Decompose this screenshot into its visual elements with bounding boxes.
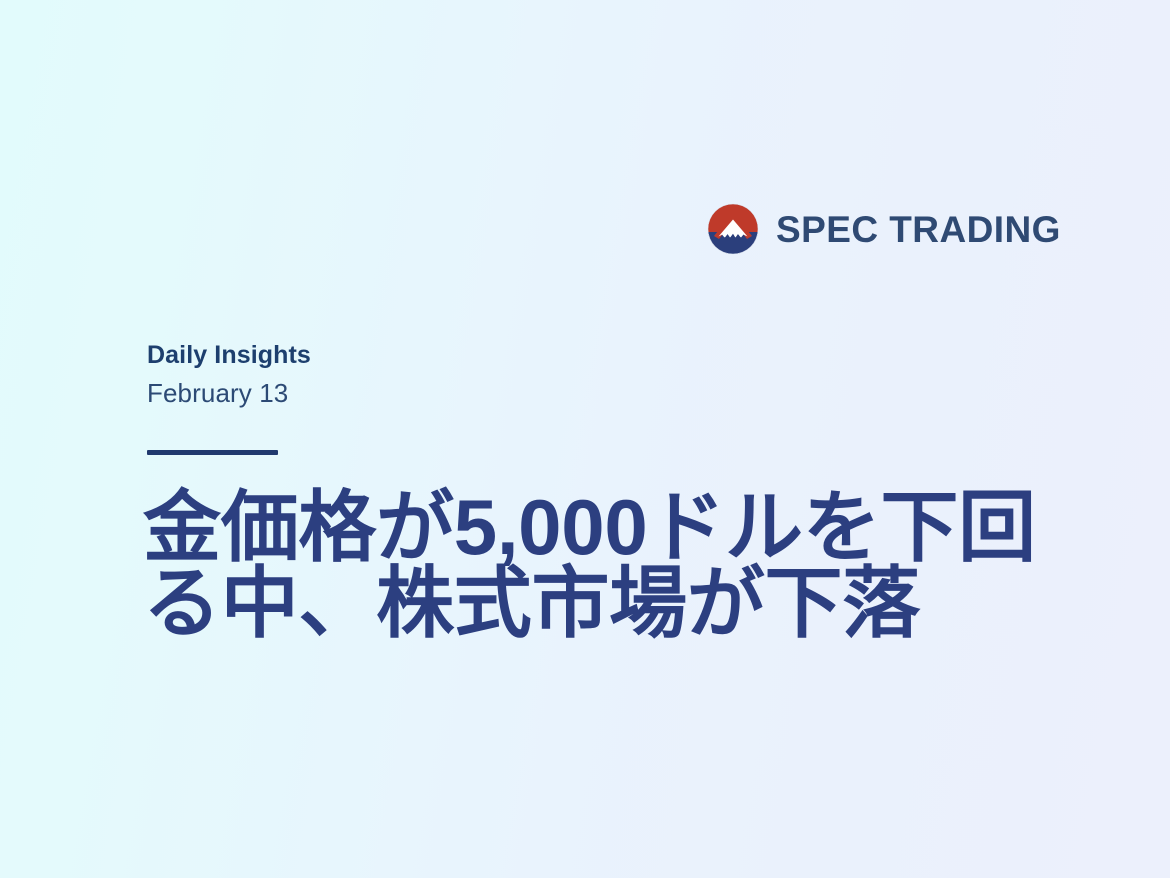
divider-rule <box>147 450 278 455</box>
brand-lockup[interactable]: SPEC TRADING <box>707 203 1061 255</box>
brand-name: SPEC TRADING <box>776 211 1061 248</box>
headline-line-2: る中、株式市場が下落 <box>143 565 1073 641</box>
eyebrow-date: February 13 <box>147 377 311 409</box>
mountain-circle-icon <box>707 203 759 255</box>
eyebrow-block: Daily Insights February 13 <box>147 340 311 409</box>
slide-canvas: SPEC TRADING Daily Insights February 13 … <box>0 0 1170 878</box>
headline-line-1: 金価格が5,000ドルを下回 <box>143 489 1073 565</box>
page-title: 金価格が5,000ドルを下回 る中、株式市場が下落 <box>143 489 1073 642</box>
eyebrow-kicker: Daily Insights <box>147 340 311 371</box>
